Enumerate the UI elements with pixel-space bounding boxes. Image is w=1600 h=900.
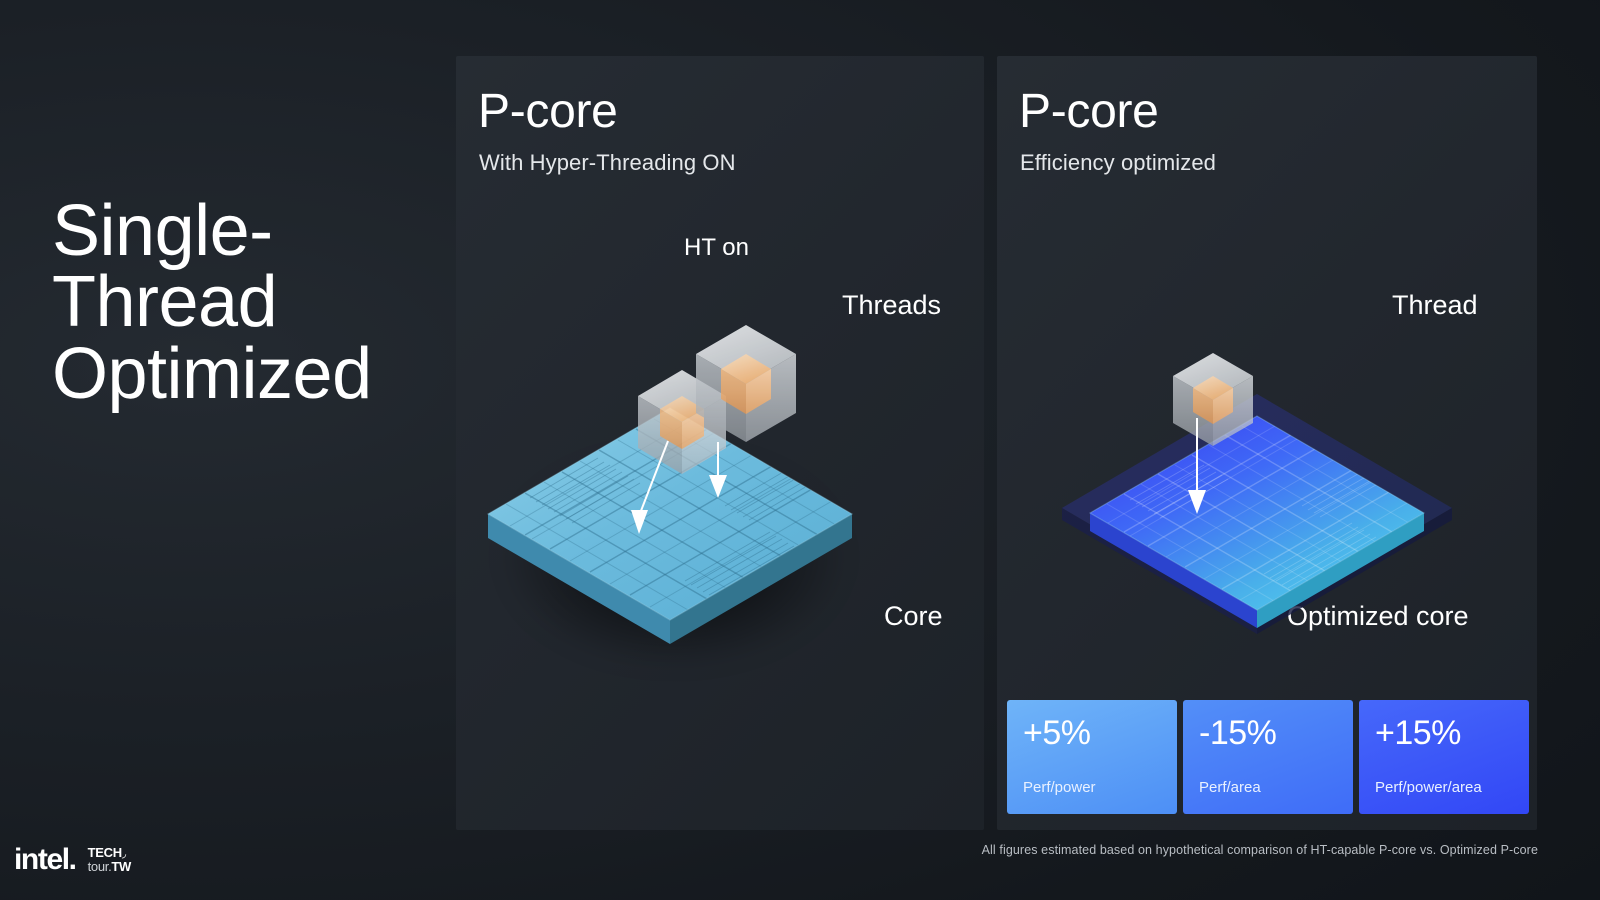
panel-left-subtitle: With Hyper-Threading ON <box>479 150 736 176</box>
die-illustration-standard <box>470 386 870 686</box>
stat-caption: Perf/power/area <box>1375 779 1482 796</box>
intel-wordmark-dot: . <box>69 843 76 876</box>
intel-wordmark: intel. <box>14 845 76 875</box>
tech-tour-wordmark: TECH◞ tour.TW <box>88 846 131 875</box>
panel-right-subtitle: Efficiency optimized <box>1020 150 1216 176</box>
stat-card-perf-area[interactable]: -15% Perf/area <box>1183 700 1353 814</box>
title-line-2: Thread <box>52 267 452 338</box>
label-thread: Thread <box>1392 290 1478 321</box>
stats-row: +5% Perf/power -15% Perf/area +15% Perf/… <box>1007 700 1529 814</box>
intel-wordmark-text: intel <box>14 843 69 876</box>
stat-caption: Perf/power <box>1023 779 1096 796</box>
label-ht-on: HT on <box>684 234 749 262</box>
panel-p-core-hyperthreading: P-core With Hyper-Threading ON HT on Thr… <box>456 56 984 830</box>
stat-value: -15% <box>1199 716 1353 750</box>
panel-right-title: P-core <box>1019 84 1159 139</box>
label-core: Core <box>884 601 943 632</box>
title-line-1: Single- <box>52 196 452 267</box>
tech-tour-line-1: TECH◞ <box>88 846 131 860</box>
stat-value: +15% <box>1375 716 1529 750</box>
slide-canvas: Single- Thread Optimized P-core With Hyp… <box>0 0 1600 900</box>
stat-value: +5% <box>1023 716 1177 750</box>
label-threads: Threads <box>842 290 941 321</box>
footnote: All figures estimated based on hypotheti… <box>982 843 1538 857</box>
stat-caption: Perf/area <box>1199 779 1261 796</box>
die-svg-standard <box>470 386 870 686</box>
panel-p-core-efficiency: P-core Efficiency optimized Thread Optim… <box>997 56 1537 830</box>
tech-tour-line-2: tour.TW <box>88 860 131 873</box>
stat-card-perf-power-area[interactable]: +15% Perf/power/area <box>1359 700 1529 814</box>
panel-left-title: P-core <box>478 84 618 139</box>
intel-tech-tour-logo: intel. TECH◞ tour.TW <box>14 845 131 875</box>
title-line-3: Optimized <box>52 339 452 410</box>
stat-card-perf-power[interactable]: +5% Perf/power <box>1007 700 1177 814</box>
die-illustration-optimized <box>1052 376 1472 656</box>
die-svg-optimized <box>1052 376 1472 676</box>
page-title: Single- Thread Optimized <box>52 196 452 410</box>
